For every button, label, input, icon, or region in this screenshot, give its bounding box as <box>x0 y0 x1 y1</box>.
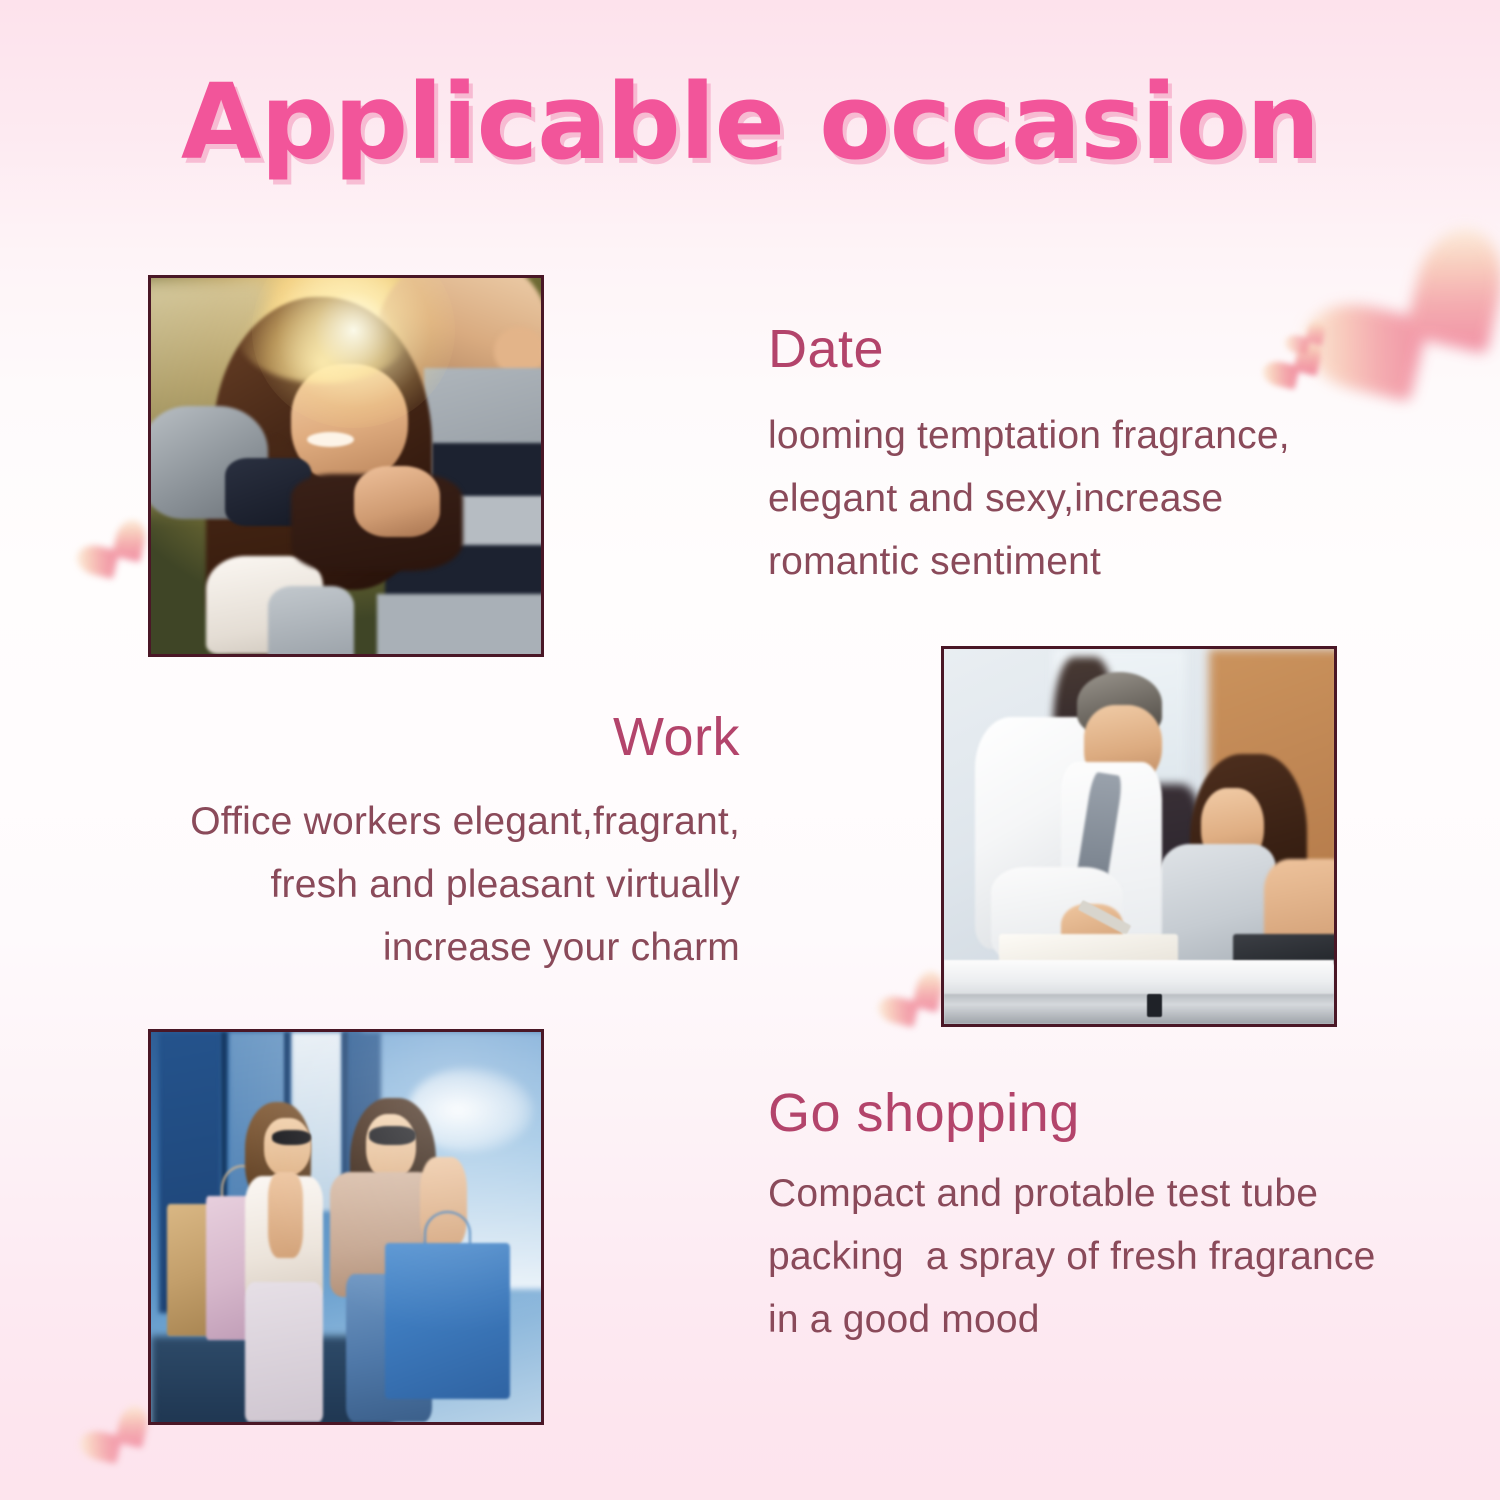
section-work: Work Office workers elegant,fragrant, fr… <box>140 706 740 980</box>
section-shopping-heading: Go shopping <box>768 1082 1428 1144</box>
section-work-line-1: Office workers elegant,fragrant, <box>140 790 740 853</box>
page-title: Applicable occasion <box>0 68 1500 177</box>
section-work-heading: Work <box>140 706 740 768</box>
heart-icon-left-small <box>82 516 130 560</box>
heart-icon-middle-small <box>884 968 928 1010</box>
section-shopping-line-1: Compact and protable test tube <box>768 1162 1428 1225</box>
photo-women-shopping <box>148 1029 544 1425</box>
photo-couple-embracing <box>148 275 544 657</box>
heart-icon-bottom-small <box>86 1402 132 1446</box>
section-work-line-2: fresh and pleasant virtually <box>140 853 740 916</box>
section-shopping: Go shopping Compact and protable test tu… <box>768 1082 1428 1352</box>
applicable-occasion-poster: Applicable occasion <box>0 0 1500 1500</box>
section-date-heading: Date <box>768 318 1388 380</box>
section-date-line-2: elegant and sexy,increase <box>768 467 1388 530</box>
section-shopping-line-3: in a good mood <box>768 1288 1428 1351</box>
photo-office-colleagues <box>941 646 1337 1027</box>
section-date-line-3: romantic sentiment <box>768 530 1388 593</box>
section-date-line-1: looming temptation fragrance, <box>768 404 1388 467</box>
section-date: Date looming temptation fragrance, elega… <box>768 318 1388 594</box>
section-shopping-line-2: packing a spray of fresh fragrance <box>768 1225 1428 1288</box>
section-work-line-3: increase your charm <box>140 916 740 979</box>
